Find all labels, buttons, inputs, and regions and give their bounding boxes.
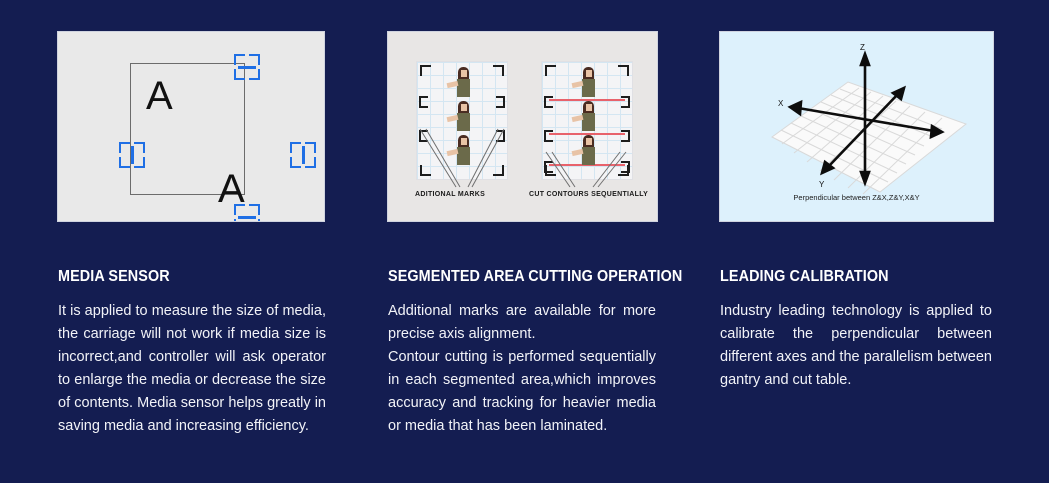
paragraph: Industry leading technology is applied t… [720, 300, 992, 392]
axis-label-z: Z [860, 43, 865, 52]
calibration-caption: Perpendicular between Z&X,Z&Y,X&Y [720, 193, 993, 202]
registration-mark-top [234, 54, 260, 80]
axis-label-y: Y [819, 180, 825, 189]
caption-cut-contours: CUT CONTOURS SEQUENTIALLY [529, 191, 648, 198]
letter-a-bottom: A [218, 169, 245, 209]
body-leading-calibration: Industry leading technology is applied t… [720, 300, 992, 392]
heading-segmented-area-cutting-operation: SEGMENTED AREA CUTTING OPERATION [388, 268, 682, 286]
caption-additional-marks: ADITIONAL MARKS [415, 191, 485, 198]
body-media-sensor: It is applied to measure the size of med… [58, 300, 326, 438]
media-sensor-image-panel: A A [57, 31, 325, 222]
letter-a-top: A [146, 76, 173, 116]
paragraph: Additional marks are available for more … [388, 300, 656, 346]
heading-leading-calibration: LEADING CALIBRATION [720, 268, 889, 286]
paragraph: It is applied to measure the size of med… [58, 300, 326, 438]
axis-label-x: X [778, 99, 784, 108]
body-segmented-area-cutting-operation: Additional marks are available for more … [388, 300, 656, 438]
segmented-cutting-image-panel: ADITIONAL MARKS CUT CONTOURS SEQUENTIALL… [387, 31, 658, 222]
registration-mark-right [290, 142, 316, 168]
paragraph: Contour cutting is performed sequentiall… [388, 346, 656, 438]
registration-mark-bottom [234, 204, 260, 222]
feature-grid: A A [0, 0, 1049, 483]
heading-media-sensor: MEDIA SENSOR [58, 268, 170, 286]
calibration-image-panel: Z X Y Perpendicular between Z&X,Z&Y,X&Y [719, 31, 994, 222]
registration-mark-left [119, 142, 145, 168]
